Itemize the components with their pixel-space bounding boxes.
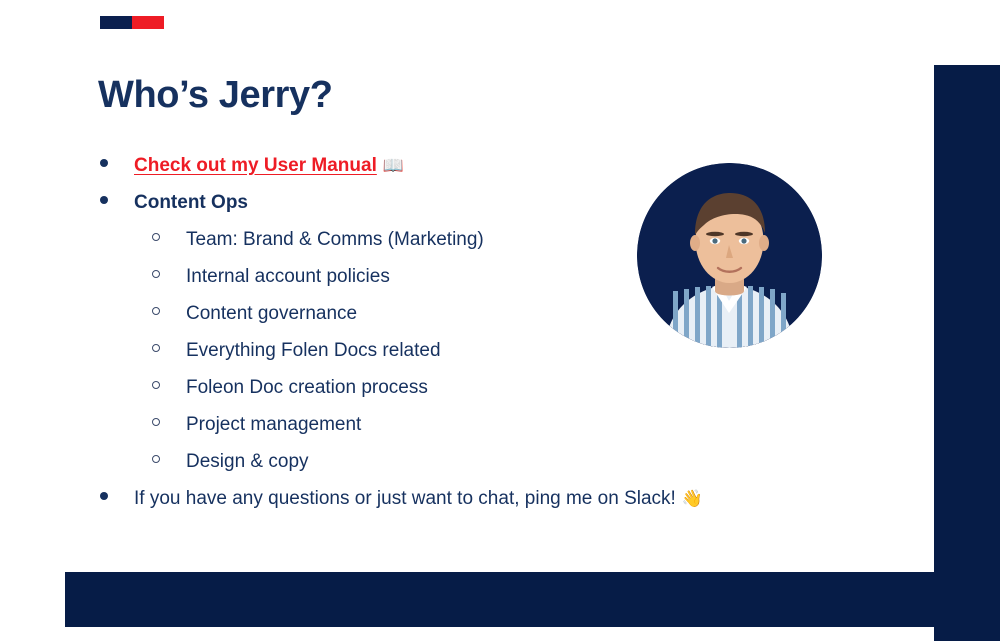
open-book-emoji: 📖 (377, 156, 404, 176)
bullet-dot-icon (100, 159, 134, 167)
bullet-circle-icon (152, 344, 186, 352)
list-item-label: Content Ops (134, 189, 248, 217)
page-title: Who’s Jerry? (98, 72, 333, 118)
list-item-label: Team: Brand & Comms (Marketing) (186, 226, 484, 254)
logo-red-segment (132, 16, 164, 29)
brand-logo-bar (100, 16, 164, 29)
bullet-circle-icon (152, 270, 186, 278)
dot-hollow-icon (152, 418, 160, 426)
waving-hand-emoji: 👋 (676, 489, 703, 509)
dot-hollow-icon (152, 307, 160, 315)
list-item: Foleon Doc creation process (100, 374, 800, 411)
dot-filled-icon (100, 492, 108, 500)
list-item-label: Everything Folen Docs related (186, 337, 441, 365)
slide: Who’s Jerry? Check out my User Manual📖Co… (0, 0, 1000, 641)
jerry-headshot (637, 163, 822, 348)
dot-hollow-icon (152, 344, 160, 352)
list-item: Design & copy (100, 448, 800, 485)
bullet-circle-icon (152, 418, 186, 426)
dot-filled-icon (100, 196, 108, 204)
bullet-circle-icon (152, 307, 186, 315)
list-item-label: Project management (186, 411, 361, 439)
list-item: Everything Folen Docs related (100, 337, 800, 374)
dot-filled-icon (100, 159, 108, 167)
dot-hollow-icon (152, 381, 160, 389)
dot-hollow-icon (152, 455, 160, 463)
decorative-bottom-bar (65, 572, 1000, 627)
list-item-label: Design & copy (186, 448, 309, 476)
decorative-right-panel (934, 65, 1000, 641)
bullet-dot-icon (100, 492, 134, 500)
bullet-circle-icon (152, 381, 186, 389)
user-manual-link[interactable]: Check out my User Manual (134, 152, 377, 180)
list-item-label: Content governance (186, 300, 357, 328)
list-item-label: If you have any questions or just want t… (134, 485, 676, 513)
dot-hollow-icon (152, 233, 160, 241)
logo-navy-segment (100, 16, 132, 29)
list-item: Project management (100, 411, 800, 448)
bullet-circle-icon (152, 233, 186, 241)
bullet-circle-icon (152, 455, 186, 463)
dot-hollow-icon (152, 270, 160, 278)
bullet-dot-icon (100, 196, 134, 204)
list-item-label: Internal account policies (186, 263, 390, 291)
list-item-label: Foleon Doc creation process (186, 374, 428, 402)
list-item: If you have any questions or just want t… (100, 485, 800, 522)
